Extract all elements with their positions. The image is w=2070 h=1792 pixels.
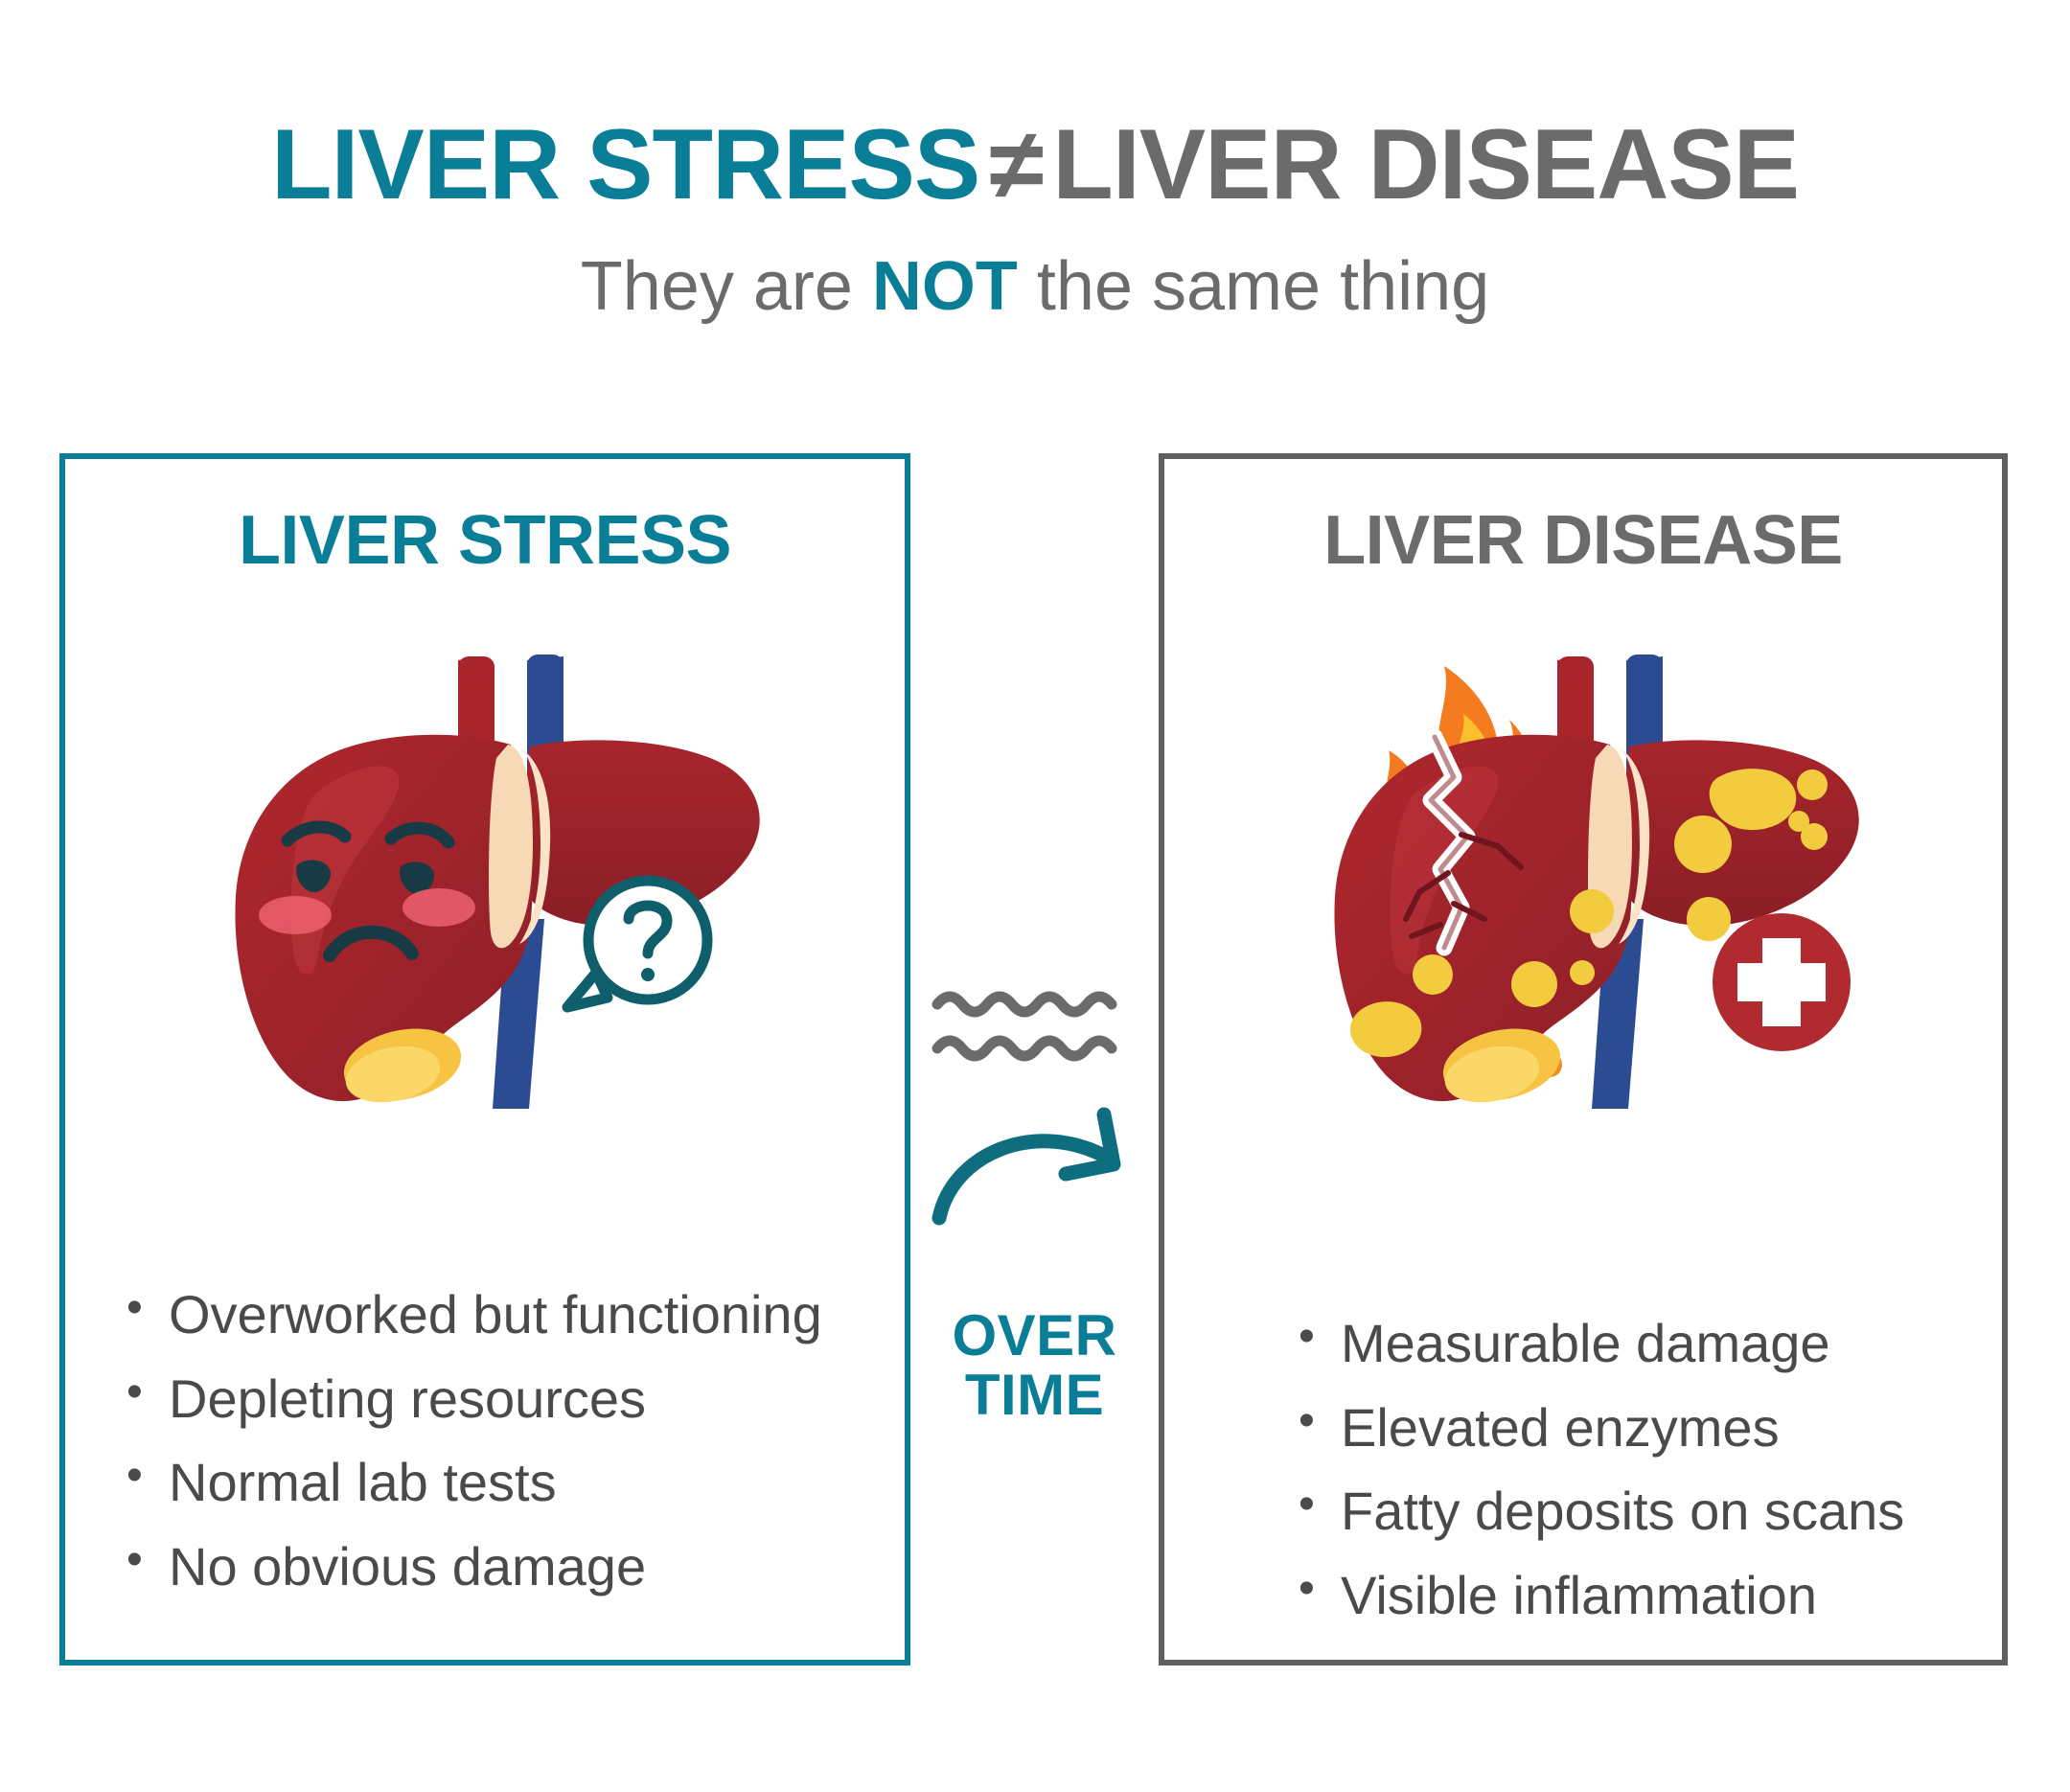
- list-item: Fatty deposits on scans: [1299, 1480, 1904, 1543]
- list-item: Overworked but functioning: [126, 1283, 822, 1346]
- list-item: Measurable damage: [1299, 1312, 1904, 1375]
- page-subtitle: They are NOT the same thing: [0, 247, 2070, 326]
- list-item: Visible inflammation: [1299, 1564, 1904, 1627]
- panel-title-liver-stress: LIVER STRESS: [65, 501, 905, 580]
- list-item: Normal lab tests: [126, 1451, 822, 1514]
- bullet-list-liver-stress: Overworked but functioning Depleting res…: [126, 1283, 822, 1619]
- curved-arrow-right-icon: [924, 1105, 1146, 1239]
- panel-liver-disease: LIVER DISEASE: [1159, 453, 2008, 1666]
- panel-liver-stress: LIVER STRESS: [59, 453, 910, 1666]
- over-time-label: OVER TIME: [910, 1306, 1159, 1425]
- list-item: Depleting resources: [126, 1367, 822, 1431]
- sad-liver-icon: [171, 632, 803, 1130]
- page-title: LIVER STRESS≠LIVER DISEASE: [0, 113, 2070, 218]
- wavy-lines-icon: [931, 985, 1138, 1068]
- over-time-line2: TIME: [910, 1366, 1159, 1425]
- bullet-list-liver-disease: Measurable damage Elevated enzymes Fatty…: [1299, 1312, 1904, 1647]
- panel-title-liver-disease: LIVER DISEASE: [1164, 501, 2002, 580]
- header: LIVER STRESS≠LIVER DISEASE They are NOT …: [0, 0, 2070, 422]
- subtitle-pre: They are: [581, 248, 872, 325]
- list-item: No obvious damage: [126, 1535, 822, 1598]
- medical-cross-icon: [1713, 913, 1851, 1051]
- not-equal-symbol: ≠: [979, 109, 1052, 220]
- title-liver-disease: LIVER DISEASE: [1052, 109, 1799, 220]
- title-liver-stress: LIVER STRESS: [271, 109, 979, 220]
- list-item: Elevated enzymes: [1299, 1396, 1904, 1459]
- over-time-line1: OVER: [910, 1306, 1159, 1366]
- connector-column: OVER TIME: [910, 453, 1159, 1666]
- subtitle-emphasis: NOT: [872, 248, 1018, 325]
- subtitle-post: the same thing: [1018, 248, 1489, 325]
- damaged-burning-liver-icon: [1270, 632, 1902, 1130]
